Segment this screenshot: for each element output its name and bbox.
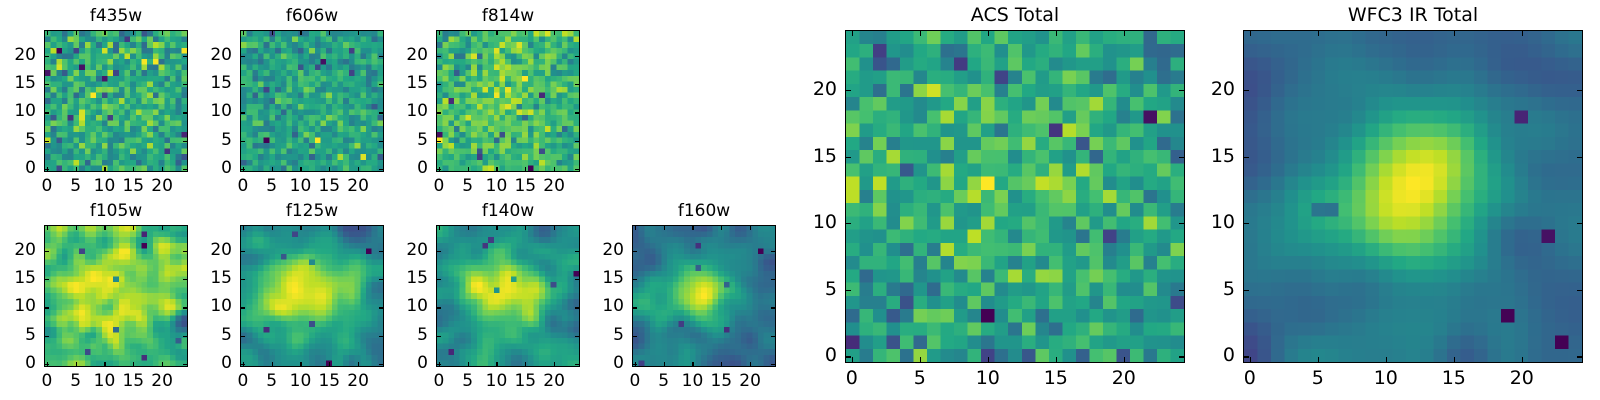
x-tick-top bbox=[635, 225, 636, 230]
panel-f814w: f814w0055101015152020 bbox=[436, 30, 580, 172]
y-tick bbox=[240, 141, 245, 142]
x-tick bbox=[162, 362, 163, 367]
x-tick-top bbox=[1056, 30, 1057, 36]
figure-canvas: f435w0055101015152020f606w00551010151520… bbox=[0, 0, 1600, 400]
y-tick-label: 10 bbox=[378, 298, 428, 315]
heatmap-canvas bbox=[1244, 31, 1582, 362]
x-tick-top bbox=[496, 30, 497, 35]
y-tick-label: 15 bbox=[1185, 147, 1235, 166]
y-tick bbox=[240, 336, 245, 337]
panel-title: f140w bbox=[436, 203, 580, 220]
x-tick-top bbox=[554, 225, 555, 230]
y-tick-label: 15 bbox=[574, 270, 624, 287]
x-tick-top bbox=[133, 30, 134, 35]
x-tick bbox=[692, 362, 693, 367]
y-tick bbox=[240, 364, 245, 365]
x-tick-top bbox=[76, 225, 77, 230]
x-tick bbox=[1124, 357, 1125, 363]
y-tick-label: 15 bbox=[182, 75, 232, 92]
x-tick bbox=[852, 357, 853, 363]
heatmap-canvas bbox=[437, 226, 579, 366]
x-tick bbox=[988, 357, 989, 363]
y-tick-right bbox=[1577, 356, 1583, 357]
x-tick-top bbox=[358, 225, 359, 230]
y-tick-label: 20 bbox=[182, 47, 232, 64]
y-tick-right bbox=[1577, 290, 1583, 291]
x-tick-top bbox=[525, 30, 526, 35]
y-tick bbox=[845, 157, 851, 158]
y-tick bbox=[240, 251, 245, 252]
y-tick bbox=[240, 169, 245, 170]
x-tick bbox=[162, 167, 163, 172]
x-tick-top bbox=[1124, 30, 1125, 36]
y-tick-right bbox=[771, 307, 776, 308]
y-tick-right bbox=[771, 364, 776, 365]
heatmap-image bbox=[44, 30, 188, 172]
y-tick bbox=[1243, 157, 1249, 158]
y-tick bbox=[44, 279, 49, 280]
y-tick bbox=[44, 112, 49, 113]
y-tick bbox=[436, 336, 441, 337]
heatmap-image bbox=[845, 30, 1185, 363]
y-tick-label: 20 bbox=[787, 80, 837, 99]
x-tick bbox=[329, 362, 330, 367]
y-tick bbox=[436, 56, 441, 57]
y-tick-right bbox=[771, 336, 776, 337]
y-tick-label: 5 bbox=[1185, 280, 1235, 299]
y-tick-label: 0 bbox=[182, 355, 232, 372]
panel-acs-total: ACS Total0055101015152020 bbox=[845, 30, 1185, 363]
y-tick-label: 15 bbox=[787, 147, 837, 166]
panel-title: WFC3 IR Total bbox=[1243, 6, 1583, 25]
x-tick bbox=[1250, 357, 1251, 363]
x-tick bbox=[329, 167, 330, 172]
y-tick-label: 20 bbox=[378, 242, 428, 259]
heatmap-canvas bbox=[241, 226, 383, 366]
y-tick bbox=[44, 169, 49, 170]
x-tick-top bbox=[272, 30, 273, 35]
x-tick bbox=[920, 357, 921, 363]
heatmap-image bbox=[1243, 30, 1583, 363]
y-tick bbox=[240, 56, 245, 57]
panel-f435w: f435w0055101015152020 bbox=[44, 30, 188, 172]
x-tick bbox=[525, 362, 526, 367]
x-tick-top bbox=[300, 30, 301, 35]
x-tick-top bbox=[243, 30, 244, 35]
x-tick-label: 0 bbox=[1225, 369, 1275, 388]
x-tick-label: 10 bbox=[963, 369, 1013, 388]
y-tick-label: 15 bbox=[378, 270, 428, 287]
heatmap-canvas bbox=[241, 31, 383, 171]
y-tick-label: 0 bbox=[0, 355, 36, 372]
y-tick bbox=[632, 364, 637, 365]
y-tick-label: 15 bbox=[0, 75, 36, 92]
x-tick bbox=[300, 167, 301, 172]
x-tick bbox=[1056, 357, 1057, 363]
x-tick bbox=[525, 167, 526, 172]
x-tick-top bbox=[1318, 30, 1319, 36]
x-tick bbox=[554, 167, 555, 172]
x-tick bbox=[664, 362, 665, 367]
x-tick-top bbox=[1250, 30, 1251, 36]
y-tick bbox=[240, 112, 245, 113]
x-tick-top bbox=[329, 30, 330, 35]
y-tick bbox=[240, 84, 245, 85]
x-tick-top bbox=[104, 225, 105, 230]
x-tick-top bbox=[692, 225, 693, 230]
y-tick bbox=[632, 279, 637, 280]
x-tick bbox=[300, 362, 301, 367]
y-tick-label: 15 bbox=[0, 270, 36, 287]
panel-wfc3-ir-total: WFC3 IR Total0055101015152020 bbox=[1243, 30, 1583, 363]
y-tick bbox=[1243, 290, 1249, 291]
x-tick bbox=[1386, 357, 1387, 363]
x-tick-label: 0 bbox=[827, 369, 877, 388]
x-tick-top bbox=[162, 225, 163, 230]
y-tick bbox=[1243, 356, 1249, 357]
y-tick bbox=[845, 290, 851, 291]
y-tick bbox=[632, 251, 637, 252]
y-tick bbox=[436, 141, 441, 142]
x-tick bbox=[554, 362, 555, 367]
y-tick bbox=[44, 141, 49, 142]
x-tick-top bbox=[1454, 30, 1455, 36]
x-tick bbox=[104, 362, 105, 367]
x-tick bbox=[76, 362, 77, 367]
y-tick-right bbox=[771, 251, 776, 252]
y-tick bbox=[44, 336, 49, 337]
panel-title: f435w bbox=[44, 8, 188, 25]
x-tick-top bbox=[243, 225, 244, 230]
x-tick-label: 20 bbox=[137, 373, 187, 390]
x-tick bbox=[76, 167, 77, 172]
x-tick-top bbox=[162, 30, 163, 35]
y-tick-label: 5 bbox=[0, 327, 36, 344]
heatmap-canvas bbox=[633, 226, 775, 366]
x-tick-top bbox=[329, 225, 330, 230]
y-tick-label: 5 bbox=[378, 327, 428, 344]
y-tick-label: 20 bbox=[0, 242, 36, 259]
panel-title: f606w bbox=[240, 8, 384, 25]
x-tick-top bbox=[664, 225, 665, 230]
panel-f125w: f125w0055101015152020 bbox=[240, 225, 384, 367]
y-tick-label: 10 bbox=[0, 103, 36, 120]
x-tick-top bbox=[468, 225, 469, 230]
x-tick-label: 15 bbox=[1031, 369, 1081, 388]
x-tick bbox=[1522, 357, 1523, 363]
panel-f160w: f160w0055101015152020 bbox=[632, 225, 776, 367]
heatmap-image bbox=[436, 225, 580, 367]
y-tick bbox=[632, 307, 637, 308]
x-tick-label: 20 bbox=[725, 373, 775, 390]
y-tick-label: 20 bbox=[574, 242, 624, 259]
y-tick bbox=[44, 56, 49, 57]
x-tick-label: 20 bbox=[137, 178, 187, 195]
y-tick-label: 5 bbox=[787, 280, 837, 299]
y-tick-label: 0 bbox=[378, 160, 428, 177]
x-tick-top bbox=[272, 225, 273, 230]
x-tick-label: 20 bbox=[333, 178, 383, 195]
heatmap-image bbox=[240, 30, 384, 172]
x-tick-top bbox=[47, 225, 48, 230]
y-tick-label: 5 bbox=[574, 327, 624, 344]
x-tick-label: 5 bbox=[1293, 369, 1343, 388]
x-tick-top bbox=[554, 30, 555, 35]
x-tick-label: 20 bbox=[1497, 369, 1547, 388]
x-tick-top bbox=[358, 30, 359, 35]
panel-f606w: f606w0055101015152020 bbox=[240, 30, 384, 172]
y-tick bbox=[845, 356, 851, 357]
y-tick-label: 5 bbox=[182, 327, 232, 344]
y-tick-right bbox=[575, 169, 580, 170]
y-tick bbox=[436, 279, 441, 280]
x-tick-top bbox=[525, 225, 526, 230]
y-tick bbox=[845, 90, 851, 91]
x-tick-top bbox=[76, 30, 77, 35]
y-tick-right bbox=[575, 141, 580, 142]
x-tick-label: 20 bbox=[1099, 369, 1149, 388]
y-tick-right bbox=[771, 279, 776, 280]
y-tick-label: 5 bbox=[0, 132, 36, 149]
x-tick-top bbox=[920, 30, 921, 36]
x-tick-top bbox=[133, 225, 134, 230]
y-tick-label: 15 bbox=[378, 75, 428, 92]
x-tick bbox=[272, 167, 273, 172]
heatmap-canvas bbox=[846, 31, 1184, 362]
x-tick-top bbox=[439, 225, 440, 230]
y-tick bbox=[1243, 223, 1249, 224]
y-tick bbox=[436, 169, 441, 170]
x-tick bbox=[496, 362, 497, 367]
y-tick-label: 0 bbox=[787, 346, 837, 365]
y-tick bbox=[436, 84, 441, 85]
x-tick-label: 15 bbox=[1429, 369, 1479, 388]
x-tick-top bbox=[750, 225, 751, 230]
y-tick-label: 10 bbox=[182, 103, 232, 120]
heatmap-canvas bbox=[45, 31, 187, 171]
x-tick bbox=[358, 167, 359, 172]
y-tick bbox=[44, 251, 49, 252]
x-tick bbox=[272, 362, 273, 367]
heatmap-image bbox=[436, 30, 580, 172]
y-tick bbox=[845, 223, 851, 224]
y-tick-label: 10 bbox=[787, 213, 837, 232]
y-tick-label: 0 bbox=[1185, 346, 1235, 365]
panel-title: ACS Total bbox=[845, 6, 1185, 25]
x-tick-top bbox=[721, 225, 722, 230]
y-tick-label: 0 bbox=[182, 160, 232, 177]
y-tick-right bbox=[575, 84, 580, 85]
heatmap-image bbox=[632, 225, 776, 367]
y-tick-label: 0 bbox=[574, 355, 624, 372]
y-tick bbox=[436, 251, 441, 252]
x-tick-top bbox=[1522, 30, 1523, 36]
heatmap-canvas bbox=[45, 226, 187, 366]
y-tick bbox=[1243, 90, 1249, 91]
y-tick-label: 10 bbox=[574, 298, 624, 315]
y-tick-right bbox=[575, 112, 580, 113]
y-tick-label: 0 bbox=[0, 160, 36, 177]
heatmap-image bbox=[240, 225, 384, 367]
x-tick bbox=[468, 167, 469, 172]
x-tick bbox=[750, 362, 751, 367]
x-tick bbox=[496, 167, 497, 172]
y-tick-label: 5 bbox=[378, 132, 428, 149]
heatmap-canvas bbox=[437, 31, 579, 171]
x-tick-label: 20 bbox=[529, 373, 579, 390]
x-tick-top bbox=[104, 30, 105, 35]
x-tick bbox=[104, 167, 105, 172]
y-tick bbox=[240, 307, 245, 308]
y-tick-label: 20 bbox=[0, 47, 36, 64]
y-tick bbox=[44, 307, 49, 308]
y-tick-label: 5 bbox=[182, 132, 232, 149]
y-tick-label: 20 bbox=[378, 47, 428, 64]
panel-title: f814w bbox=[436, 8, 580, 25]
y-tick-label: 0 bbox=[378, 355, 428, 372]
panel-title: f160w bbox=[632, 203, 776, 220]
x-tick-top bbox=[47, 30, 48, 35]
y-tick bbox=[436, 364, 441, 365]
x-tick-label: 5 bbox=[895, 369, 945, 388]
y-tick bbox=[632, 336, 637, 337]
x-tick bbox=[133, 167, 134, 172]
y-tick-right bbox=[575, 56, 580, 57]
y-tick-right bbox=[1577, 223, 1583, 224]
y-tick-right bbox=[1577, 90, 1583, 91]
y-tick-label: 10 bbox=[378, 103, 428, 120]
panel-f140w: f140w0055101015152020 bbox=[436, 225, 580, 367]
x-tick bbox=[468, 362, 469, 367]
heatmap-image bbox=[44, 225, 188, 367]
x-tick bbox=[1318, 357, 1319, 363]
x-tick-top bbox=[852, 30, 853, 36]
y-tick-label: 10 bbox=[1185, 213, 1235, 232]
panel-f105w: f105w0055101015152020 bbox=[44, 225, 188, 367]
panel-title: f125w bbox=[240, 203, 384, 220]
x-tick-label: 20 bbox=[333, 373, 383, 390]
y-tick bbox=[436, 307, 441, 308]
y-tick-label: 15 bbox=[182, 270, 232, 287]
x-tick-label: 10 bbox=[1361, 369, 1411, 388]
x-tick-top bbox=[988, 30, 989, 36]
x-tick-label: 20 bbox=[529, 178, 579, 195]
x-tick-top bbox=[300, 225, 301, 230]
y-tick bbox=[240, 279, 245, 280]
x-tick bbox=[721, 362, 722, 367]
y-tick bbox=[44, 84, 49, 85]
x-tick-top bbox=[496, 225, 497, 230]
x-tick-top bbox=[1386, 30, 1387, 36]
x-tick bbox=[133, 362, 134, 367]
y-tick-label: 20 bbox=[182, 242, 232, 259]
x-tick bbox=[358, 362, 359, 367]
y-tick-label: 10 bbox=[0, 298, 36, 315]
x-tick-top bbox=[468, 30, 469, 35]
y-tick bbox=[44, 364, 49, 365]
panel-title: f105w bbox=[44, 203, 188, 220]
y-tick-right bbox=[1577, 157, 1583, 158]
x-tick-top bbox=[439, 30, 440, 35]
x-tick bbox=[1454, 357, 1455, 363]
y-tick-label: 10 bbox=[182, 298, 232, 315]
y-tick-label: 20 bbox=[1185, 80, 1235, 99]
y-tick bbox=[436, 112, 441, 113]
